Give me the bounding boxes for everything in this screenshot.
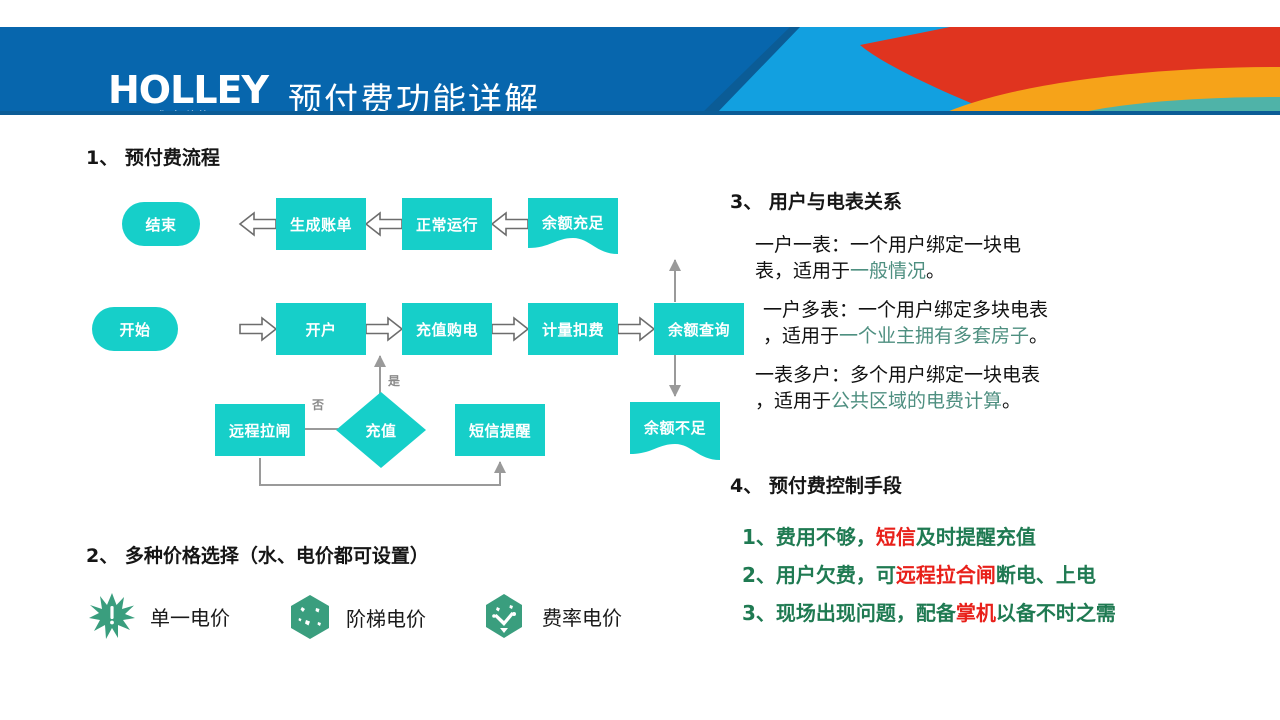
flow-node-sms-alert: 短信提醒 bbox=[455, 404, 545, 456]
price-option-single: 单一电价 bbox=[88, 592, 230, 640]
relation-line-1: 一户一表：一个用户绑定一块电 bbox=[755, 232, 1215, 258]
relation-highlight: 公共区域的电费计算 bbox=[831, 390, 1002, 412]
control-text-mid: 以备不时之需 bbox=[996, 601, 1116, 625]
flow-node-label: 生成账单 bbox=[290, 214, 352, 235]
price-options-row: 单一电价 阶梯电价 费率电价 bbox=[88, 592, 688, 648]
control-item: 3、现场出现问题，配备掌机以备不时之需 bbox=[742, 594, 1212, 632]
flow-node-label: 结束 bbox=[145, 214, 176, 235]
control-item: 1、费用不够，短信及时提醒充值 bbox=[742, 518, 1212, 556]
flow-node-label: 计量扣费 bbox=[542, 319, 604, 340]
flow-node-label: 余额查询 bbox=[668, 319, 730, 340]
relation-text: ，适用于 bbox=[763, 325, 839, 347]
relation-line-1: 一户多表：一个用户绑定多块电表 bbox=[763, 297, 1215, 323]
price-option-label: 费率电价 bbox=[542, 602, 622, 631]
flow-node-label: 充值 bbox=[365, 420, 396, 441]
flow-node-label: 开始 bbox=[119, 319, 150, 340]
prepaid-flowchart: 结束 生成账单 正常运行 余额充足 开始 开户 充值购电 计量扣费 余额查询 远… bbox=[80, 180, 700, 500]
price-option-label: 单一电价 bbox=[150, 602, 230, 631]
flow-node-label: 远程拉闸 bbox=[229, 420, 291, 441]
relation-line-2: ，适用于一个业主拥有多套房子。 bbox=[763, 323, 1215, 349]
price-option-label: 阶梯电价 bbox=[346, 603, 426, 632]
relation-item: 一户多表：一个用户绑定多块电表 ，适用于一个业主拥有多套房子。 bbox=[755, 297, 1215, 349]
header-underline bbox=[0, 111, 1280, 115]
flow-node-end: 结束 bbox=[122, 202, 200, 246]
relation-highlight: 一般情况 bbox=[850, 260, 926, 282]
flow-node-label: 开户 bbox=[305, 319, 336, 340]
relation-highlight: 一个业主拥有多套房子 bbox=[839, 325, 1029, 347]
control-measures-list: 1、费用不够，短信及时提醒充值 2、用户欠费，可远程拉合闸断电、上电 3、现场出… bbox=[742, 518, 1212, 632]
starburst-icon bbox=[88, 592, 136, 640]
price-option-rate: 费率电价 bbox=[480, 592, 622, 640]
relation-text-end: 。 bbox=[926, 260, 945, 282]
flow-node-open-account: 开户 bbox=[276, 303, 366, 355]
relation-line-1: 一表多户：多个用户绑定一块电表 bbox=[755, 362, 1215, 388]
flow-node-label: 余额充足 bbox=[542, 212, 604, 233]
relation-text-end: 。 bbox=[1029, 325, 1048, 347]
relation-line-2: 表，适用于一般情况。 bbox=[755, 258, 1215, 284]
control-emphasis: 短信 bbox=[876, 525, 916, 549]
page-title: 预付费功能详解 bbox=[288, 73, 540, 115]
flow-node-normal-run: 正常运行 bbox=[402, 198, 492, 250]
hexagon-icon bbox=[288, 594, 332, 640]
section-2-heading: 2、 多种价格选择（水、电价都可设置） bbox=[86, 541, 429, 568]
relation-line-2: ，适用于公共区域的电费计算。 bbox=[755, 388, 1215, 414]
control-text-mid: 及时提醒 bbox=[916, 525, 996, 549]
flow-node-label: 短信提醒 bbox=[469, 420, 531, 441]
section-3-heading: 3、 用户与电表关系 bbox=[730, 187, 902, 214]
relation-item: 一表多户：多个用户绑定一块电表 ，适用于公共区域的电费计算。 bbox=[755, 362, 1215, 414]
flow-node-label: 余额不足 bbox=[644, 417, 706, 438]
flow-node-recharge-buy: 充值购电 bbox=[402, 303, 492, 355]
page-header: HOLLEY TECH 华立科技 预付费功能详解 bbox=[0, 27, 1280, 115]
control-text: 现场出现问题，配备 bbox=[776, 601, 956, 625]
flow-edge-label-no: 否 bbox=[312, 396, 324, 413]
flow-node-label: 正常运行 bbox=[416, 214, 478, 235]
section-4-heading: 4、 预付费控制手段 bbox=[730, 471, 902, 498]
control-text: 费用不够， bbox=[776, 525, 876, 549]
flow-node-balance-low: 余额不足 bbox=[630, 402, 720, 460]
relation-text: ，适用于 bbox=[755, 390, 831, 412]
control-text-mid: 断电、上电 bbox=[996, 563, 1096, 587]
company-logo: HOLLEY TECH 华立科技 bbox=[108, 71, 258, 115]
hexagon-chart-icon bbox=[480, 592, 528, 640]
flow-node-start: 开始 bbox=[92, 307, 178, 351]
control-number: 2、 bbox=[742, 563, 776, 587]
flow-node-recharge-decision: 充值 bbox=[336, 392, 426, 468]
relation-item: 一户一表：一个用户绑定一块电 表，适用于一般情况。 bbox=[755, 232, 1215, 284]
control-item: 2、用户欠费，可远程拉合闸断电、上电 bbox=[742, 556, 1212, 594]
control-text: 用户欠费，可 bbox=[776, 563, 896, 587]
flow-node-label: 充值购电 bbox=[416, 319, 478, 340]
user-meter-relation-list: 一户一表：一个用户绑定一块电 表，适用于一般情况。 一户多表：一个用户绑定多块电… bbox=[755, 232, 1215, 427]
control-number: 1、 bbox=[742, 525, 776, 549]
flow-node-metering-deduct: 计量扣费 bbox=[528, 303, 618, 355]
control-text-post: 充值 bbox=[996, 525, 1036, 549]
price-option-tiered: 阶梯电价 bbox=[288, 594, 426, 640]
flow-node-bill: 生成账单 bbox=[276, 198, 366, 250]
flow-edge-label-yes: 是 bbox=[388, 372, 400, 389]
relation-text: 表，适用于 bbox=[755, 260, 850, 282]
relation-text-end: 。 bbox=[1002, 390, 1021, 412]
section-1-heading: 1、 预付费流程 bbox=[86, 143, 220, 170]
control-emphasis: 掌机 bbox=[956, 601, 996, 625]
logo-wordmark: HOLLEY bbox=[108, 71, 258, 109]
control-number: 3、 bbox=[742, 601, 776, 625]
flow-node-balance-enough: 余额充足 bbox=[528, 198, 618, 254]
flow-node-remote-breaker: 远程拉闸 bbox=[215, 404, 305, 456]
flow-node-balance-query: 余额查询 bbox=[654, 303, 744, 355]
control-emphasis: 远程拉合闸 bbox=[896, 563, 996, 587]
